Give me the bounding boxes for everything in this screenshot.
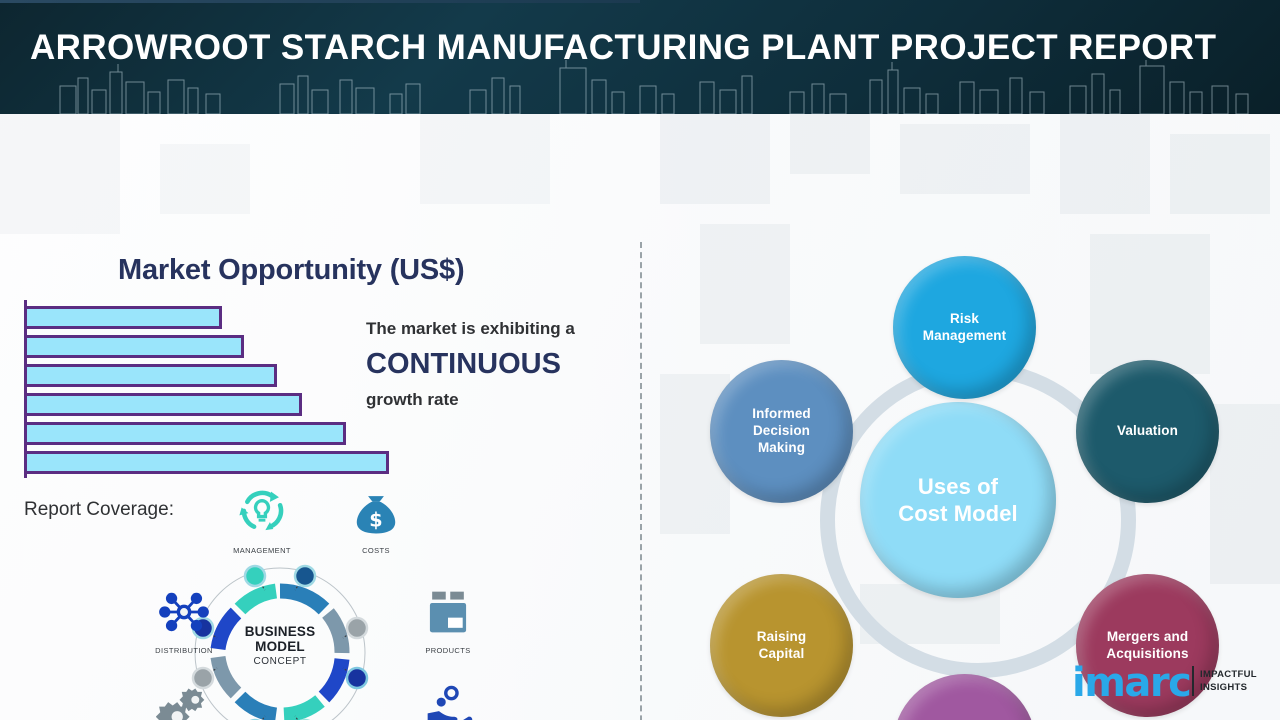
coverage-item-products: PRODUCTS: [388, 586, 508, 655]
wheel-node-risk-management[interactable]: Risk Management: [893, 256, 1036, 399]
network-nodes-icon: [156, 586, 212, 638]
growth-blurb-line3: growth rate: [366, 389, 636, 412]
uses-of-cost-model-wheel: Uses of Cost Model Risk Management Valua…: [648, 234, 1280, 720]
coverage-item-distribution: DISTRIBUTION: [124, 586, 244, 655]
growth-blurb-line2: CONTINUOUS: [366, 345, 636, 384]
wheel-node-label: Raising Capital: [757, 629, 806, 662]
box-icon: [420, 586, 476, 638]
wheel-center-node: Uses of Cost Model: [860, 402, 1056, 598]
bar-row: [27, 422, 346, 445]
wheel-node-valuation[interactable]: Valuation: [1076, 360, 1219, 503]
header-accent-line: [0, 0, 640, 3]
growth-blurb: The market is exhibiting a CONTINUOUS gr…: [366, 318, 636, 412]
imarc-logo: imarc IMPACTFUL INSIGHTS: [1072, 662, 1272, 708]
logo-tagline-line1: IMPACTFUL: [1200, 669, 1257, 680]
report-coverage-diagram: BUSINESS MODEL CONCEPT MANAGEMENT: [130, 486, 530, 720]
wheel-node-raising-capital[interactable]: Raising Capital: [710, 574, 853, 717]
logo-wordmark: imarc: [1072, 663, 1190, 703]
market-opportunity-bar-chart: [24, 300, 404, 478]
page-title: ARROWROOT STARCH MANUFACTURING PLANT PRO…: [30, 28, 1216, 68]
coverage-item-revenue: REVENUE: [388, 684, 508, 720]
recycle-bulb-icon: [234, 486, 290, 538]
svg-text:$: $: [369, 509, 382, 532]
coverage-label: DISTRIBUTION: [124, 646, 244, 655]
bar-row: [27, 335, 244, 358]
market-opportunity-title: Market Opportunity (US$): [118, 254, 464, 287]
content-stage: Market Opportunity (US$) The market is e…: [0, 114, 1280, 720]
wheel-node-label: Risk Management: [923, 311, 1007, 344]
coverage-label: COSTS: [316, 546, 436, 555]
coverage-label: MANAGEMENT: [202, 546, 322, 555]
page-header: ARROWROOT STARCH MANUFACTURING PLANT PRO…: [0, 0, 1280, 114]
city-skyline-graphic: [0, 60, 1280, 114]
bar-row: [27, 451, 389, 474]
gears-icon: [156, 684, 212, 720]
wheel-node-label: Mergers and Acquisitions: [1106, 629, 1188, 662]
business-model-line3: CONCEPT: [185, 656, 375, 667]
coverage-item-costs: $ COSTS: [316, 486, 436, 555]
coverage-label: PRODUCTS: [388, 646, 508, 655]
wheel-center-line2: Cost Model: [898, 500, 1018, 527]
hand-coins-icon: [420, 684, 476, 720]
bar-row: [27, 364, 277, 387]
growth-blurb-line1: The market is exhibiting a: [366, 318, 636, 341]
bar-row: [27, 306, 222, 329]
logo-tagline-line2: INSIGHTS: [1200, 682, 1247, 693]
wheel-node-budgeting-forecasting[interactable]: Budgeting and Forecasting: [893, 674, 1036, 720]
wheel-node-label: Informed Decision Making: [752, 406, 811, 456]
wheel-center-line1: Uses of: [898, 473, 1018, 500]
wheel-node-label: Valuation: [1117, 423, 1178, 440]
money-bag-icon: $: [348, 486, 404, 538]
wheel-node-informed-decision-making[interactable]: Informed Decision Making: [710, 360, 853, 503]
coverage-item-management: MANAGEMENT: [202, 486, 322, 555]
panel-divider: [640, 242, 642, 720]
logo-divider: [1192, 666, 1194, 696]
coverage-item-services: SERVICES: [124, 684, 244, 720]
bar-row: [27, 393, 302, 416]
